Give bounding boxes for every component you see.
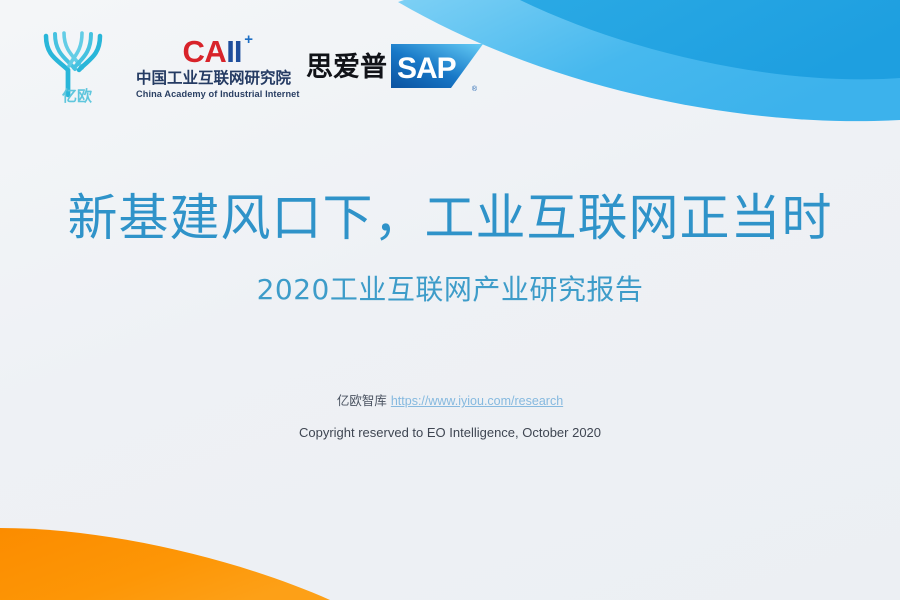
presentation-slide: 亿欧 CAII+ 中国工业互联网研究院 China Academy of Ind… (0, 0, 900, 600)
research-url-link[interactable]: https://www.iyiou.com/research (391, 394, 563, 408)
caii-english-name: China Academy of Industrial Internet (136, 89, 288, 99)
yiou-logo-label: 亿欧 (62, 89, 92, 104)
caii-acronym-ii: II (226, 34, 241, 69)
logo-sap[interactable]: 思爱普 SAP ® (306, 38, 483, 96)
copyright-line: Copyright reserved to EO Intelligence, O… (0, 425, 900, 440)
page-title: 新基建风口下，工业互联网正当时 (0, 190, 900, 246)
logo-caii[interactable]: CAII+ 中国工业互联网研究院 China Academy of Indust… (136, 28, 288, 106)
caii-acronym: CAII+ (182, 36, 241, 67)
sap-wordmark: SAP ® (391, 44, 483, 91)
title-block: 新基建风口下，工业互联网正当时 2020工业互联网产业研究报告 (0, 190, 900, 308)
logo-yiou[interactable]: 亿欧 (36, 24, 114, 106)
credits-block: 亿欧智库https://www.iyiou.com/research Copyr… (0, 392, 900, 440)
publisher-line: 亿欧智库https://www.iyiou.com/research (0, 392, 900, 411)
page-subtitle: 2020工业互联网产业研究报告 (0, 268, 900, 308)
sap-chinese-name: 思爱普 (306, 54, 387, 81)
svg-text:SAP: SAP (397, 52, 456, 85)
bottom-orange-curve (0, 528, 330, 600)
sap-logo-icon: SAP (391, 44, 483, 91)
caii-chinese-name: 中国工业互联网研究院 (136, 70, 288, 87)
caii-plus-icon: + (244, 32, 252, 47)
sap-registered-icon: ® (472, 86, 477, 93)
publisher-name: 亿欧智库 (337, 393, 387, 408)
caii-acronym-ca: CA (182, 34, 226, 69)
top-dark-blue-curve (520, 0, 900, 79)
logo-bar: 亿欧 CAII+ 中国工业互联网研究院 China Academy of Ind… (36, 24, 483, 106)
